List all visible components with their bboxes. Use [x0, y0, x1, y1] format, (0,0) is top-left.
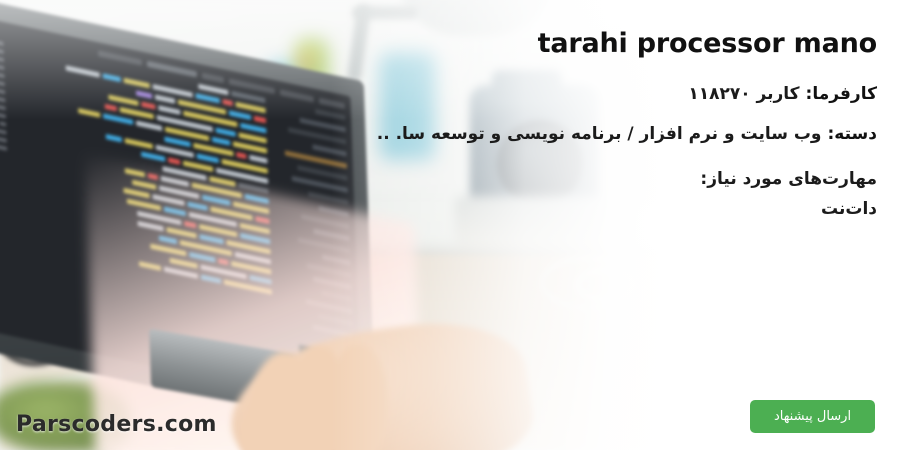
project-title: tarahi processor mano: [480, 28, 877, 60]
skills-block: مهارت‌های مورد نیاز: دات‌نت: [480, 167, 877, 222]
category-row: دسته:وب سایت و نرم افزار / برنامه نویسی …: [480, 122, 877, 148]
site-watermark: Parscoders.com: [16, 412, 217, 437]
submit-bid-button[interactable]: ارسال پیشنهاد: [750, 400, 875, 433]
category-label: دسته:: [828, 124, 878, 144]
employer-row: کارفرما:کاربر ۱۱۸۲۷۰: [480, 82, 877, 108]
skills-label: مهارت‌های مورد نیاز:: [480, 167, 877, 193]
category-value[interactable]: وب سایت و نرم افزار / برنامه نویسی و توس…: [377, 124, 822, 144]
employer-value[interactable]: کاربر ۱۱۸۲۷۰: [688, 84, 799, 104]
project-details-panel: tarahi processor mano کارفرما:کاربر ۱۱۸۲…: [480, 0, 900, 450]
employer-label: کارفرما:: [806, 84, 877, 104]
project-listing-card: Parscoders.com tarahi processor mano کار…: [0, 0, 900, 450]
skills-value[interactable]: دات‌نت: [480, 197, 877, 223]
